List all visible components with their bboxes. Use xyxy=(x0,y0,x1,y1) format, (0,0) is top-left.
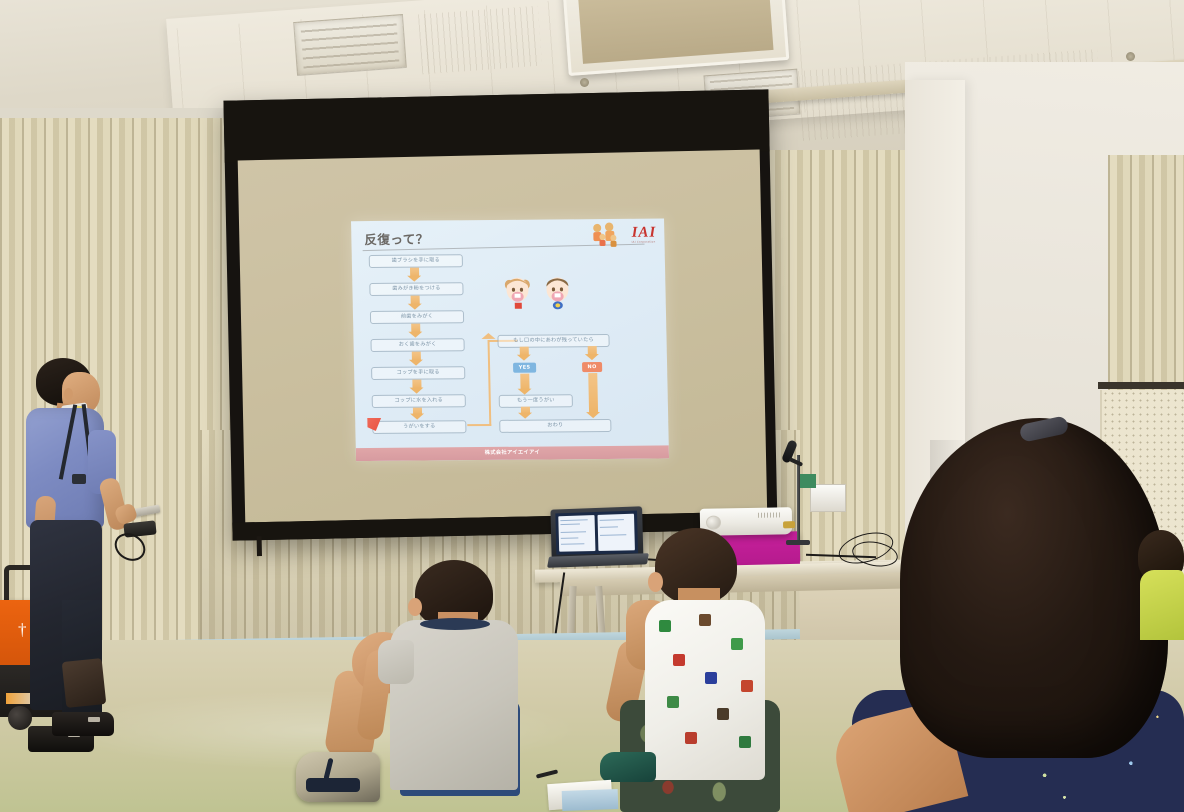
yes-to-gargle-arrow xyxy=(520,374,529,390)
slide-footer: 株式会社アイエイアイ xyxy=(356,445,669,461)
sprinkler-head-right xyxy=(1126,52,1135,61)
sprinkler-head-left xyxy=(580,78,589,87)
decision-yes-arrowhead xyxy=(517,355,531,361)
flow-box-gargle-again: もう一度うがい xyxy=(499,394,573,408)
screen-foot-left xyxy=(257,536,262,556)
child2-tank-top xyxy=(645,600,765,780)
flow-box-1: 歯ブラシを手に取る xyxy=(369,254,463,268)
yes-badge: YES xyxy=(513,363,536,373)
small-green-object xyxy=(800,474,816,488)
girl-face-illustration-icon xyxy=(502,276,533,310)
bag-on-floor xyxy=(62,658,107,708)
boy-face-illustration-icon xyxy=(542,275,573,309)
loop-line-h-bottom xyxy=(467,424,491,426)
flow-arrowhead-1 xyxy=(407,276,421,282)
presenter-ear xyxy=(64,388,73,400)
projected-slide: 反復って？ IAI IAI Corporation 歯ブラシを手に取る xyxy=(351,218,669,461)
slide-title: 反復って？ xyxy=(364,229,429,249)
flow-box-4: おく歯をみがく xyxy=(370,338,464,352)
curtain-far-right xyxy=(1108,155,1184,405)
flow-box-7: うがいをする xyxy=(372,420,466,434)
projector-vent xyxy=(758,512,782,517)
iai-logo: IAI xyxy=(631,225,656,242)
flow-arrowhead-3 xyxy=(408,332,422,338)
ceiling-linear-vent-left xyxy=(418,6,542,75)
booklet-on-floor xyxy=(562,789,619,811)
flow-arrowhead-4 xyxy=(409,360,423,366)
child1-sneaker xyxy=(296,752,380,802)
presentation-room-photo: 反復って？ IAI IAI Corporation 歯ブラシを手に取る xyxy=(0,0,1184,812)
presenter-shoe-front xyxy=(52,712,114,736)
child2-ear xyxy=(648,572,663,592)
iai-logo-subtext: IAI Corporation xyxy=(632,241,656,244)
child3-shirt xyxy=(1140,570,1184,640)
flow-box-3: 前歯をみがく xyxy=(370,310,464,324)
flow-box-6: コップに水を入れる xyxy=(372,394,466,408)
flow-arrowhead-6 xyxy=(410,414,424,420)
projector-lens-icon xyxy=(706,515,721,529)
microphone-stand-pole xyxy=(797,455,800,543)
laptop-slide-pane-next xyxy=(597,514,635,551)
gargle-to-end-arrowhead xyxy=(518,413,532,419)
acoustic-panel-trim xyxy=(1098,382,1184,389)
flow-box-end: おわり xyxy=(499,419,611,433)
projector-cable-plug xyxy=(783,521,795,528)
child1-collar-trim xyxy=(420,618,490,630)
microphone-stand-base xyxy=(786,540,810,545)
decision-no-arrowhead xyxy=(585,354,599,360)
child2-sandal xyxy=(600,752,656,782)
laptop-slide-pane-current xyxy=(558,515,595,552)
ceiling-diffuser-left xyxy=(293,14,407,76)
no-badge: NO xyxy=(582,362,602,372)
flow-arrowhead-5 xyxy=(410,388,424,394)
projection-screen: 反復って？ IAI IAI Corporation 歯ブラシを手に取る xyxy=(223,89,777,540)
child1-sleeve xyxy=(378,640,414,684)
flow-box-5: コップを手に取る xyxy=(371,366,465,380)
loop-line-v xyxy=(488,342,492,426)
no-to-end-arrow xyxy=(588,373,598,413)
loop-arrowhead xyxy=(481,333,495,339)
no-to-end-arrowhead xyxy=(586,412,600,418)
storage-box-white xyxy=(810,484,846,512)
flow-arrowhead-2 xyxy=(408,304,422,310)
presenter-badge xyxy=(72,474,86,484)
woman-hair xyxy=(900,418,1168,758)
laptop-screen[interactable] xyxy=(555,511,638,555)
laptop-lid xyxy=(550,506,643,560)
family-illustration-icon xyxy=(588,222,623,248)
flow-box-2: 歯みがき粉をつける xyxy=(369,282,463,296)
child1-ear xyxy=(408,598,422,616)
